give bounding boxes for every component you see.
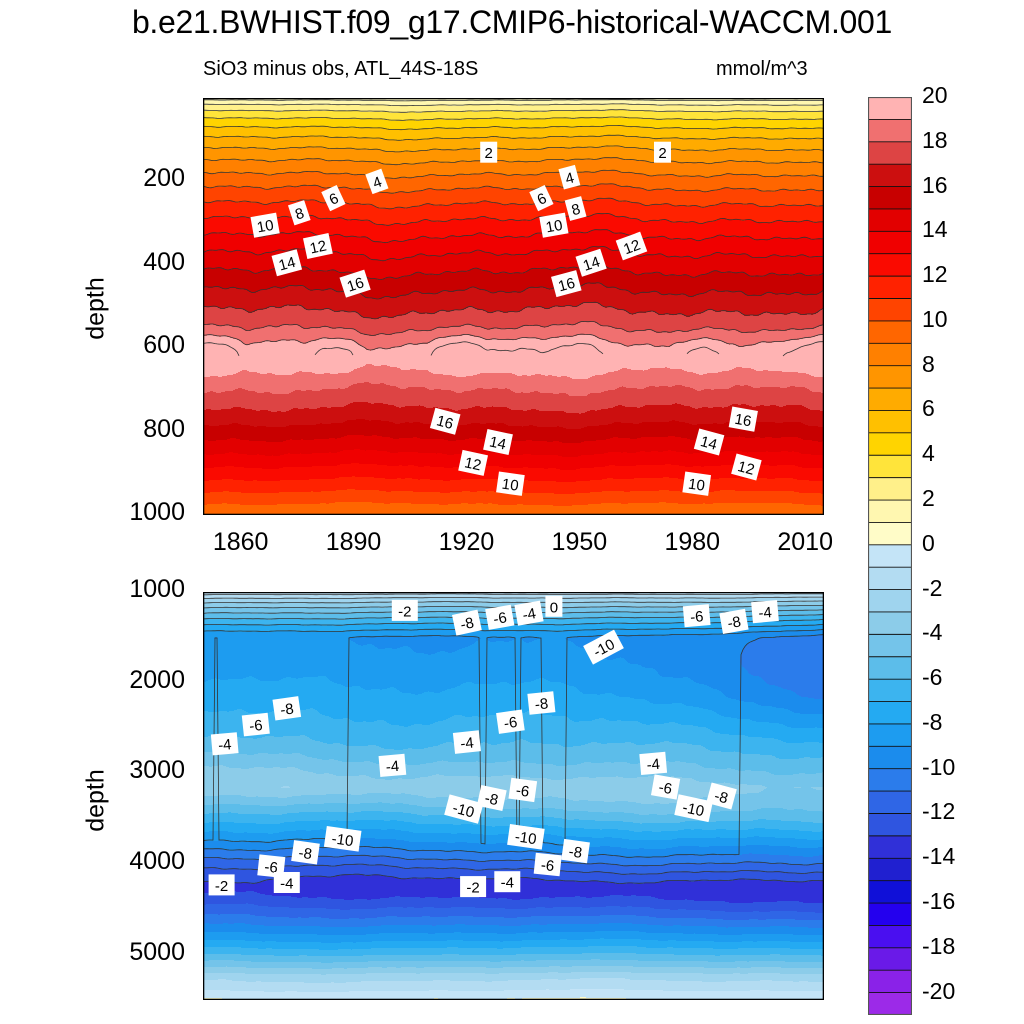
- y-tick-label: 600: [60, 331, 185, 360]
- colorbar-label: -6: [922, 664, 1012, 691]
- colorbar-label: -14: [922, 843, 1012, 870]
- colorbar-label: 14: [922, 216, 1012, 243]
- x-tick-label: 1980: [632, 528, 752, 557]
- subtitle-units: mmol/m^3: [716, 58, 808, 81]
- y-tick-label: 1000: [60, 575, 185, 604]
- colorbar-band: [869, 388, 912, 411]
- colorbar-band: [869, 276, 912, 299]
- colorbar-label: 20: [922, 82, 1012, 109]
- colorbar-band: [869, 858, 912, 881]
- contour-label: -8: [527, 691, 555, 715]
- y-tick-label: 200: [60, 164, 185, 193]
- colorbar-band: [869, 410, 912, 433]
- contour-label: -2: [392, 600, 418, 621]
- colorbar-band: [869, 612, 912, 635]
- page-title: b.e21.BWHIST.f09_g17.CMIP6-historical-WA…: [0, 4, 1024, 41]
- colorbar-band: [869, 433, 912, 456]
- contour-label: -8: [291, 840, 320, 864]
- contour-label: -4: [211, 732, 239, 755]
- colorbar-label: 12: [922, 261, 1012, 288]
- contour-label: -4: [514, 601, 543, 626]
- colorbar-band: [869, 881, 912, 904]
- y-tick-label: 1000: [60, 498, 185, 527]
- x-tick-label: 1950: [519, 528, 639, 557]
- contour-label: -8: [272, 696, 301, 720]
- colorbar-band: [869, 187, 912, 210]
- colorbar-label: 8: [922, 351, 1012, 378]
- colorbar-band: [869, 299, 912, 322]
- colorbar-band: [869, 903, 912, 926]
- contour-label: 2: [654, 142, 671, 163]
- colorbar-band: [869, 948, 912, 971]
- colorbar-band: [869, 478, 912, 501]
- colorbar-label: 16: [922, 172, 1012, 199]
- colorbar-band: [869, 164, 912, 187]
- contour-label: -4: [453, 730, 481, 754]
- colorbar-band: [869, 993, 912, 1015]
- colorbar-band: [869, 702, 912, 725]
- colorbar-band: [869, 209, 912, 232]
- y-tick-label: 2000: [60, 666, 185, 695]
- colorbar-band: [869, 634, 912, 657]
- colorbar-band: [869, 567, 912, 590]
- colorbar-band: [869, 455, 912, 478]
- contour-label: 10: [250, 213, 279, 238]
- colorbar-band: [869, 813, 912, 836]
- colorbar-label: -8: [922, 709, 1012, 736]
- contour-label: -6: [242, 713, 270, 737]
- colorbar-band: [869, 545, 912, 568]
- contour-label: -6: [651, 774, 680, 799]
- x-tick-label: 1890: [294, 528, 414, 557]
- colorbar-band: [869, 769, 912, 792]
- colorbar-label: 2: [922, 485, 1012, 512]
- colorbar-label: 18: [922, 127, 1012, 154]
- colorbar-label: -10: [922, 754, 1012, 781]
- contour-label: -8: [561, 839, 590, 863]
- contour-label: -4: [494, 871, 520, 892]
- colorbar-label: 10: [922, 306, 1012, 333]
- colorbar-band: [869, 746, 912, 769]
- contour-label: -4: [379, 754, 407, 777]
- colorbar-band: [869, 254, 912, 277]
- lower-panel: -2-8-6-40-6-8-4-10-8-8-6-6-4-4-4-4-6-6-8…: [203, 592, 824, 1000]
- colorbar-band: [869, 836, 912, 859]
- colorbar-band: [869, 679, 912, 702]
- upper-panel: 2244668810101212141416161616141412121010: [203, 98, 824, 515]
- contour-label: -6: [534, 853, 562, 877]
- contour-label: 0: [545, 596, 562, 617]
- colorbar-label: 0: [922, 530, 1012, 557]
- contour-label: -4: [274, 872, 300, 893]
- colorbar: [868, 97, 912, 1015]
- contour-label: -6: [508, 778, 537, 802]
- x-tick-label: 2010: [745, 528, 865, 557]
- colorbar-band: [869, 590, 912, 613]
- colorbar-swatches: [868, 97, 912, 1015]
- colorbar-label: 4: [922, 440, 1012, 467]
- lower-contour-field: -2-8-6-40-6-8-4-10-8-8-6-6-4-4-4-4-6-6-8…: [203, 592, 824, 1000]
- contour-label: 16: [729, 407, 758, 432]
- colorbar-band: [869, 97, 912, 120]
- y-tick-label: 3000: [60, 756, 185, 785]
- y-tick-label: 4000: [60, 847, 185, 876]
- contour-label: 2: [480, 142, 497, 163]
- colorbar-band: [869, 231, 912, 254]
- contour-label: -4: [639, 752, 667, 775]
- contour-label: 10: [682, 471, 711, 495]
- colorbar-band: [869, 321, 912, 344]
- y-tick-label: 400: [60, 248, 185, 277]
- colorbar-label: -18: [922, 933, 1012, 960]
- subtitle-variable: SiO3 minus obs, ATL_44S-18S: [203, 58, 478, 81]
- upper-contour-field: 2244668810101212141416161616141412121010: [203, 98, 824, 515]
- colorbar-label: -16: [922, 888, 1012, 915]
- colorbar-label: -2: [922, 575, 1012, 602]
- colorbar-band: [869, 791, 912, 814]
- colorbar-band: [869, 657, 912, 680]
- contour-label: -2: [460, 876, 486, 897]
- contour-label: -6: [496, 709, 525, 733]
- colorbar-band: [869, 500, 912, 523]
- colorbar-band: [869, 343, 912, 366]
- contour-label: 10: [496, 471, 525, 495]
- colorbar-band: [869, 724, 912, 747]
- y-tick-label: 5000: [60, 938, 185, 967]
- colorbar-band: [869, 925, 912, 948]
- colorbar-band: [869, 970, 912, 993]
- colorbar-band: [869, 366, 912, 389]
- x-tick-label: 1920: [406, 528, 526, 557]
- y-tick-label: 800: [60, 415, 185, 444]
- contour-label: -6: [683, 604, 711, 627]
- colorbar-label: -20: [922, 978, 1012, 1005]
- contour-label: -2: [209, 874, 235, 895]
- colorbar-label: 6: [922, 395, 1012, 422]
- colorbar-band: [869, 522, 912, 545]
- contour-label: 10: [539, 213, 568, 238]
- contour-label: -6: [485, 605, 514, 630]
- contour-label: -8: [719, 609, 748, 634]
- colorbar-label: -4: [922, 619, 1012, 646]
- colorbar-band: [869, 119, 912, 142]
- colorbar-band: [869, 142, 912, 165]
- colorbar-label: -12: [922, 798, 1012, 825]
- x-tick-label: 1860: [181, 528, 301, 557]
- contour-label: -4: [751, 600, 779, 623]
